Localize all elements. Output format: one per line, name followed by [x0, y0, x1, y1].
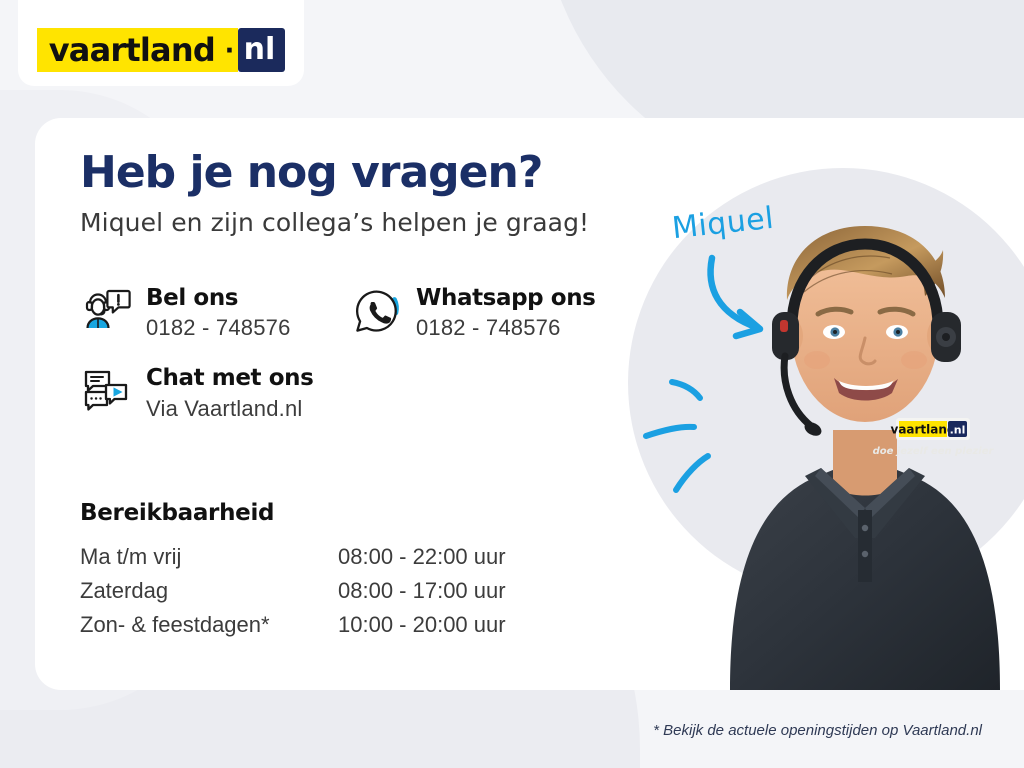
contact-whatsapp-text: Whatsapp ons 0182 - 748576: [416, 283, 595, 341]
curved-arrow-icon: [700, 250, 810, 360]
contact-call-text: Bel ons 0182 - 748576: [146, 283, 291, 341]
contact-call-value: 0182 - 748576: [146, 315, 291, 341]
page-title: Heb je nog vragen?: [80, 150, 640, 196]
contact-whatsapp-value: 0182 - 748576: [416, 315, 595, 341]
opening-hours-title: Bereikbaarheid: [80, 500, 580, 526]
contact-row-primary: Bel ons 0182 - 748576 Whatsapp ons 0182 …: [78, 283, 638, 341]
headset-person-icon: [78, 283, 134, 339]
logo-lockup: vaartland · nl: [37, 28, 285, 72]
opening-hours: Bereikbaarheid Ma t/m vrij 08:00 - 22:00…: [80, 500, 580, 642]
contact-call-title: Bel ons: [146, 285, 291, 311]
contact-chat-title: Chat met ons: [146, 365, 313, 391]
contact-item-whatsapp[interactable]: Whatsapp ons 0182 - 748576: [348, 283, 628, 341]
logo-tld-badge: nl: [238, 28, 286, 72]
contact-chat-value: Via Vaartland.nl: [146, 396, 313, 422]
hero-text-block: Heb je nog vragen? Miquel en zijn colleg…: [80, 150, 640, 237]
logo-separator-dot: ·: [225, 28, 238, 72]
opening-hours-row: Zaterdag 08:00 - 17:00 uur: [80, 574, 580, 608]
svg-text:vaartland: vaartland: [890, 423, 955, 437]
opening-hours-time: 08:00 - 22:00 uur: [338, 540, 506, 574]
opening-hours-day: Ma t/m vrij: [80, 540, 338, 574]
sparkle-strokes-icon: [640, 360, 770, 500]
contact-whatsapp-title: Whatsapp ons: [416, 285, 595, 311]
svg-text:doe jezelf een plezier: doe jezelf een plezier: [873, 446, 995, 457]
opening-hours-day: Zon- & feestdagen*: [80, 608, 338, 642]
banner-stage: vaartland · nl Heb je nog vragen? Miquel…: [0, 0, 1024, 768]
svg-text:.nl: .nl: [950, 424, 966, 437]
opening-hours-row: Zon- & feestdagen* 10:00 - 20:00 uur: [80, 608, 580, 642]
opening-hours-time: 08:00 - 17:00 uur: [338, 574, 506, 608]
chat-bubbles-icon: [78, 363, 134, 419]
opening-hours-time: 10:00 - 20:00 uur: [338, 608, 506, 642]
contact-item-call[interactable]: Bel ons 0182 - 748576: [78, 283, 348, 341]
opening-hours-row: Ma t/m vrij 08:00 - 22:00 uur: [80, 540, 580, 574]
logo-wordmark: vaartland: [37, 28, 225, 72]
whatsapp-icon: [348, 283, 404, 339]
opening-hours-day: Zaterdag: [80, 574, 338, 608]
contact-item-chat[interactable]: Chat met ons Via Vaartland.nl: [78, 363, 638, 421]
contact-methods: Bel ons 0182 - 748576 Whatsapp ons 0182 …: [78, 283, 638, 422]
footer-note: * Bekijk de actuele openingstijden op Va…: [0, 722, 1024, 739]
page-subtitle: Miquel en zijn collega’s helpen je graag…: [80, 208, 640, 237]
contact-chat-text: Chat met ons Via Vaartland.nl: [146, 363, 313, 421]
brand-logo[interactable]: vaartland · nl: [18, 0, 304, 86]
